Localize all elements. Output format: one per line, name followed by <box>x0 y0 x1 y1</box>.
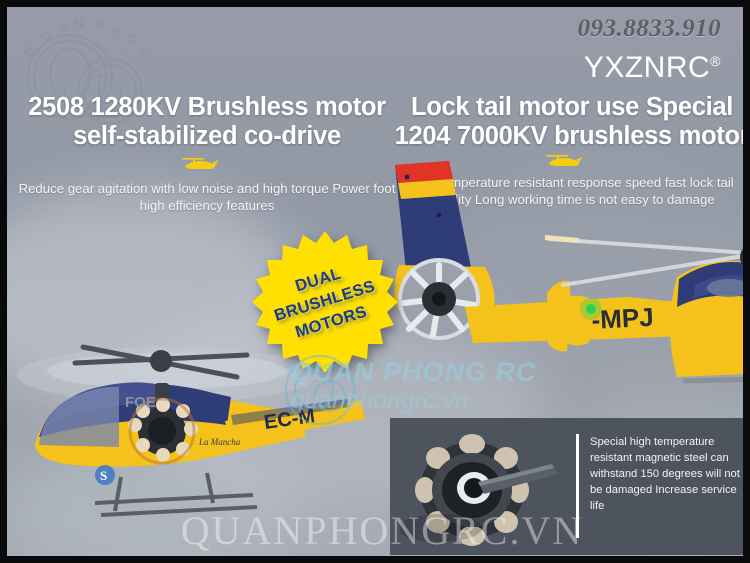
svg-text:N: N <box>74 16 85 32</box>
left-subtext: Reduce gear agitation with low noise and… <box>17 181 397 215</box>
poster-stage: Q U Á N P H O N 093.8833.910 YXZNRC® 250… <box>7 7 743 556</box>
product-poster: Q U Á N P H O N 093.8833.910 YXZNRC® 250… <box>0 0 750 563</box>
small-body-text: La Mancha <box>198 437 241 447</box>
right-headline: Lock tail motor use Special 1204 7000KV … <box>393 93 743 151</box>
svg-text:O: O <box>123 30 139 48</box>
motor-rotor-image <box>400 428 570 546</box>
brand-logo: YXZNRC® <box>584 51 721 85</box>
left-headline: 2508 1280KV Brushless motor self-stabili… <box>21 93 393 151</box>
svg-text:Á: Á <box>56 19 70 36</box>
registered-mark: ® <box>710 53 721 69</box>
helicopter-icon <box>179 155 219 175</box>
svg-text:QUÁN PHONG: QUÁN PHONG <box>293 362 341 371</box>
brand-name: YXZNRC <box>584 51 710 84</box>
svg-text:H: H <box>110 21 124 38</box>
info-panel-text: Special high temperature resistant magne… <box>590 435 740 515</box>
phone-number: 093.8833.910 <box>578 15 722 43</box>
svg-text:U: U <box>38 27 53 45</box>
info-panel: Special high temperature resistant magne… <box>390 418 743 555</box>
svg-text:P: P <box>96 17 107 33</box>
accent-bar <box>576 434 579 538</box>
qp-circle-watermark: QUÁN PHONG <box>283 353 357 427</box>
svg-text:Q: Q <box>20 42 37 60</box>
svg-text:S: S <box>100 468 107 483</box>
svg-text:N: N <box>135 44 152 62</box>
small-registration-text: FOE <box>125 394 156 411</box>
large-helicopter-image: -MPJ <box>377 157 743 427</box>
